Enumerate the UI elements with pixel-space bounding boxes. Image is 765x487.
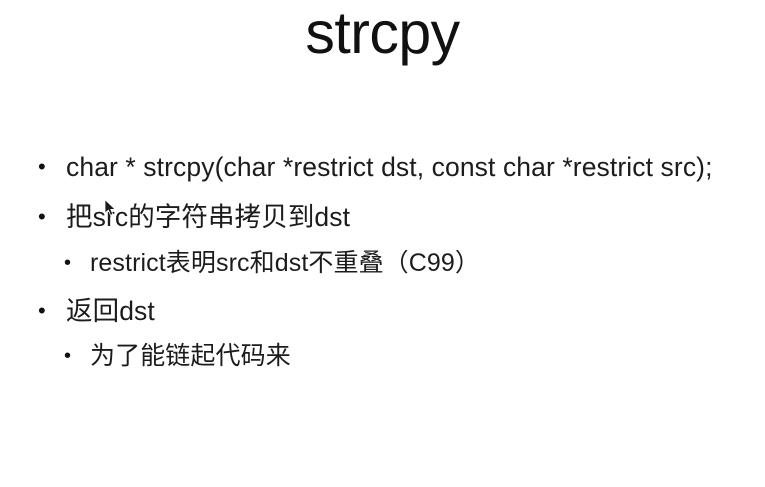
list-item-label: 返回dst bbox=[66, 294, 747, 328]
bullet-marker-icon: • bbox=[64, 340, 90, 373]
bullet-marker-icon: • bbox=[38, 294, 66, 328]
list-item-label: 为了能链起代码来 bbox=[90, 340, 747, 373]
bullet-marker-icon: • bbox=[64, 247, 90, 280]
list-item: • 为了能链起代码来 bbox=[0, 340, 765, 373]
bullet-marker-icon: • bbox=[38, 150, 66, 184]
list-item: • 把src的字符串拷贝到dst bbox=[0, 200, 765, 234]
page-title: strcpy bbox=[0, 2, 765, 66]
list-item-label: char * strcpy(char *restrict dst, const … bbox=[66, 150, 747, 184]
list-item: • restrict表明src和dst不重叠（C99） bbox=[0, 247, 765, 280]
slide-body: • char * strcpy(char *restrict dst, cons… bbox=[0, 150, 765, 383]
list-item: • char * strcpy(char *restrict dst, cons… bbox=[0, 150, 765, 184]
list-item-label: 把src的字符串拷贝到dst bbox=[66, 200, 747, 234]
list-item-label: restrict表明src和dst不重叠（C99） bbox=[90, 247, 747, 280]
bullet-marker-icon: • bbox=[38, 200, 66, 234]
list-item: • 返回dst bbox=[0, 294, 765, 328]
slide-canvas: strcpy • char * strcpy(char *restrict ds… bbox=[0, 0, 765, 487]
